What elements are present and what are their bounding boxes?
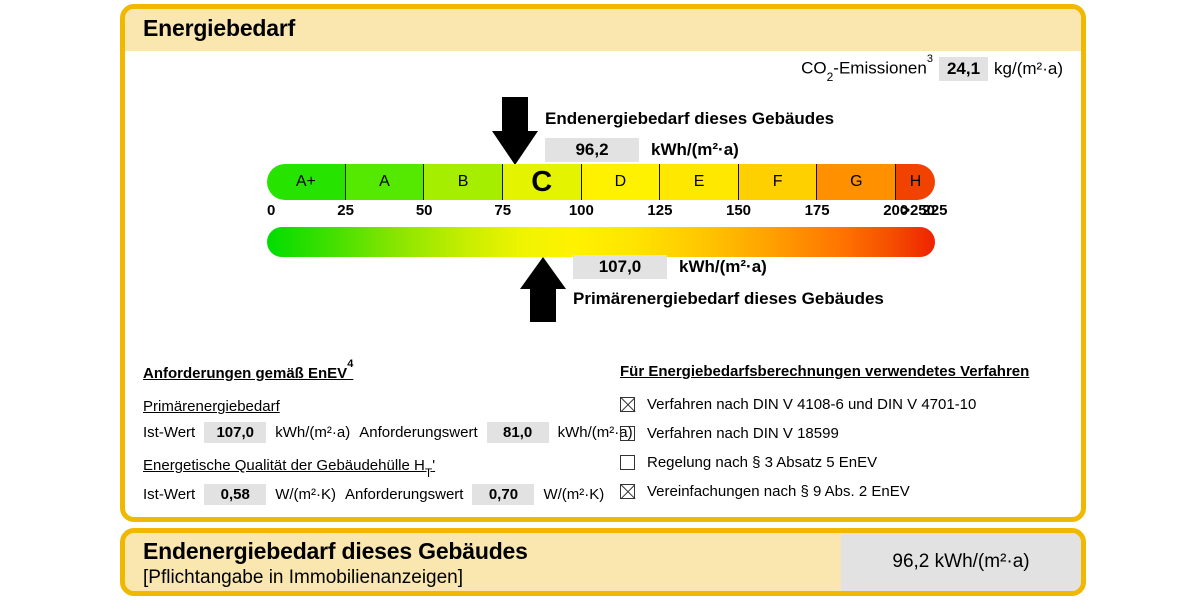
footer-subtitle: [Pflichtangabe in Immobilienanzeigen]: [143, 567, 463, 589]
endenergiebedarf-value: 96,2: [545, 138, 639, 162]
energy-class-segment-H: H: [896, 164, 935, 200]
requirements-section: Anforderungen gemäß EnEV4 Primärenergieb…: [143, 363, 613, 522]
summer-heat-protection-checkbox-group[interactable]: eingehalten: [448, 521, 551, 522]
endenergiebedarf-caption: Endenergiebedarf dieses Gebäudes: [545, 109, 834, 129]
envelope-quality-subheading: Energetische Qualität der Gebäudehülle H…: [143, 457, 613, 477]
method-row-1[interactable]: Verfahren nach DIN V 4108-6 und DIN V 47…: [620, 396, 1070, 413]
primaerenergiebedarf-value: 107,0: [573, 255, 667, 279]
summer-heat-protection-row: Sommerlicher Wärmeschutz (bei Neubau) ei…: [143, 521, 613, 522]
envelope-ist-unit: W/(m²·K): [275, 486, 336, 503]
requirements-heading: Anforderungen gemäß EnEV4: [143, 363, 613, 382]
method-checkbox-3[interactable]: [620, 455, 635, 470]
energy-scale-tick: 175: [805, 202, 830, 219]
primaerenergiebedarf-unit: kWh/(m²·a): [679, 257, 767, 277]
energy-class-label-B: B: [458, 174, 469, 190]
primary-energy-values-row: Ist-Wert 107,0 kWh/(m²·a) Anforderungswe…: [143, 422, 613, 443]
method-label-1: Verfahren nach DIN V 4108-6 und DIN V 47…: [647, 396, 976, 413]
primaerenergie-gradient-bar: [267, 227, 935, 257]
primaerenergiebedarf-value-line: 107,0 kWh/(m²·a): [573, 255, 884, 279]
envelope-subheading-text: Energetische Qualität der Gebäudehülle H: [143, 457, 425, 474]
primary-ist-label: Ist-Wert: [143, 424, 195, 441]
mandatory-disclosure-footer: Endenergiebedarf dieses Gebäudes [Pflich…: [120, 528, 1086, 596]
energy-class-label-F: F: [773, 174, 783, 190]
envelope-subheading-subscript: T: [425, 466, 432, 480]
method-checkbox-1[interactable]: [620, 397, 635, 412]
energy-class-label-D: D: [615, 174, 627, 190]
method-checkbox-4[interactable]: [620, 484, 635, 499]
energy-class-bar: A+ABCDEFGH: [267, 164, 935, 200]
energy-class-segment-G: G: [817, 164, 896, 200]
method-label-3: Regelung nach § 3 Absatz 5 EnEV: [647, 454, 877, 471]
energy-scale-tick: 100: [569, 202, 594, 219]
envelope-subheading-prime: ': [432, 457, 435, 474]
endenergiebedarf-value-line: 96,2 kWh/(m²·a): [545, 138, 834, 162]
method-row-3[interactable]: Regelung nach § 3 Absatz 5 EnEV: [620, 454, 1070, 471]
primaerenergiebedarf-callout: 107,0 kWh/(m²·a) Primärenergiebedarf die…: [573, 255, 884, 309]
primary-ist-unit: kWh/(m²·a): [275, 424, 350, 441]
energy-scale-tick: 25: [337, 202, 354, 219]
arrow-down-shaft: [502, 97, 528, 133]
energy-class-label-G: G: [850, 174, 862, 190]
energy-scale-tick: 0: [267, 202, 275, 219]
energy-class-segment-Aplus: A+: [267, 164, 346, 200]
requirements-heading-text: Anforderungen gemäß EnEV: [143, 365, 347, 382]
envelope-ist-label: Ist-Wert: [143, 486, 195, 503]
energy-class-label-A: A: [379, 174, 390, 190]
method-checkbox-2[interactable]: [620, 426, 635, 441]
energy-class-segment-A: A: [346, 164, 425, 200]
arrow-down-head: [492, 131, 538, 165]
energy-scale-ticks: 0255075100125150175200225>250: [267, 202, 935, 222]
primary-energy-subheading: Primärenergiebedarf: [143, 398, 613, 415]
energy-class-segment-B: B: [424, 164, 503, 200]
method-row-2[interactable]: Verfahren nach DIN V 18599: [620, 425, 1070, 442]
footer-value: 96,2 kWh/(m²·a): [841, 533, 1081, 591]
envelope-anf-value: 0,70: [472, 484, 534, 505]
energy-class-label-Aplus: A+: [296, 174, 316, 190]
arrow-up-head: [520, 257, 566, 289]
energy-class-segment-D: D: [582, 164, 661, 200]
footer-title: Endenergiebedarf dieses Gebäudes: [143, 538, 528, 565]
energy-class-segment-F: F: [739, 164, 818, 200]
arrow-up-shaft: [530, 287, 556, 322]
primary-ist-value: 107,0: [204, 422, 266, 443]
method-label-4: Vereinfachungen nach § 9 Abs. 2 EnEV: [647, 483, 910, 500]
energy-certificate-page: Energiebedarf CO2-Emissionen3 24,1 kg/(m…: [0, 0, 1200, 600]
endenergiebedarf-unit: kWh/(m²·a): [651, 140, 739, 160]
energy-demand-panel: Energiebedarf CO2-Emissionen3 24,1 kg/(m…: [120, 4, 1086, 522]
method-label-2: Verfahren nach DIN V 18599: [647, 425, 839, 442]
summer-heat-protection-checkbox-label: eingehalten: [473, 521, 551, 522]
energy-scale-tick: 75: [494, 202, 511, 219]
energy-class-segment-E: E: [660, 164, 739, 200]
primary-anf-label: Anforderungswert: [359, 424, 477, 441]
energy-class-label-E: E: [694, 174, 705, 190]
energy-class-label-C: C: [531, 168, 552, 197]
method-row-4[interactable]: Vereinfachungen nach § 9 Abs. 2 EnEV: [620, 483, 1070, 500]
endenergiebedarf-callout: Endenergiebedarf dieses Gebäudes 96,2 kW…: [545, 109, 834, 162]
envelope-anf-label: Anforderungswert: [345, 486, 463, 503]
energy-class-label-H: H: [910, 174, 922, 190]
primaerenergiebedarf-caption: Primärenergiebedarf dieses Gebäudes: [573, 289, 884, 309]
energy-scale-tick: 50: [416, 202, 433, 219]
primary-anf-value: 81,0: [487, 422, 549, 443]
energy-scale-tick: >250: [901, 202, 935, 219]
summer-heat-protection-label: Sommerlicher Wärmeschutz (bei Neubau): [143, 521, 422, 522]
requirements-heading-footnote: 4: [347, 358, 353, 370]
envelope-ist-value: 0,58: [204, 484, 266, 505]
calculation-methods-section: Für Energiebedarfsberechnungen verwendet…: [620, 363, 1070, 512]
envelope-anf-unit: W/(m²·K): [543, 486, 604, 503]
envelope-values-row: Ist-Wert 0,58 W/(m²·K) Anforderungswert …: [143, 484, 613, 505]
calculation-methods-heading: Für Energiebedarfsberechnungen verwendet…: [620, 363, 1070, 380]
energy-scale-tick: 125: [647, 202, 672, 219]
energy-scale-tick: 150: [726, 202, 751, 219]
calculation-methods-list: Verfahren nach DIN V 4108-6 und DIN V 47…: [620, 396, 1070, 500]
energy-class-segment-C: C: [503, 164, 582, 200]
